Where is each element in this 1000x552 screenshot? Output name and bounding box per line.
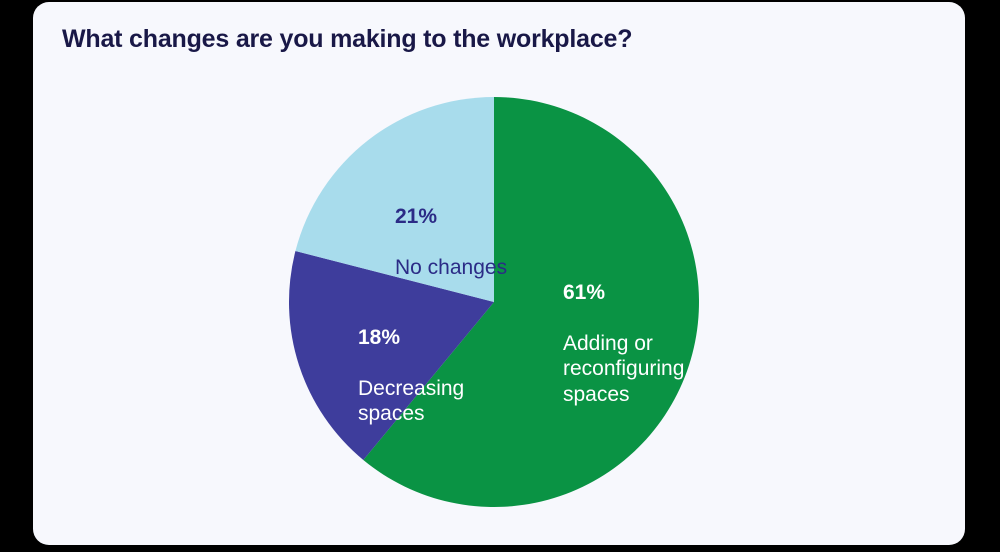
- chart-card: What changes are you making to the workp…: [33, 2, 965, 545]
- pie-label-text: No changes: [395, 255, 565, 281]
- page-title: What changes are you making to the workp…: [62, 25, 632, 54]
- pie-label-text: Decreasing spaces: [358, 376, 518, 427]
- pie-label-decreasing-spaces: 18% Decreasing spaces: [358, 299, 518, 453]
- pie-label-percent: 61%: [563, 280, 743, 306]
- pie-label-adding-or-reconfiguring-spaces: 61% Adding or reconfiguring spaces: [563, 254, 743, 433]
- screenshot-root: What changes are you making to the workp…: [0, 0, 1000, 552]
- pie-label-no-changes: 21% No changes: [395, 178, 565, 306]
- pie-label-text: Adding or reconfiguring spaces: [563, 331, 743, 408]
- pie-label-percent: 18%: [358, 325, 518, 351]
- pie-label-percent: 21%: [395, 204, 565, 230]
